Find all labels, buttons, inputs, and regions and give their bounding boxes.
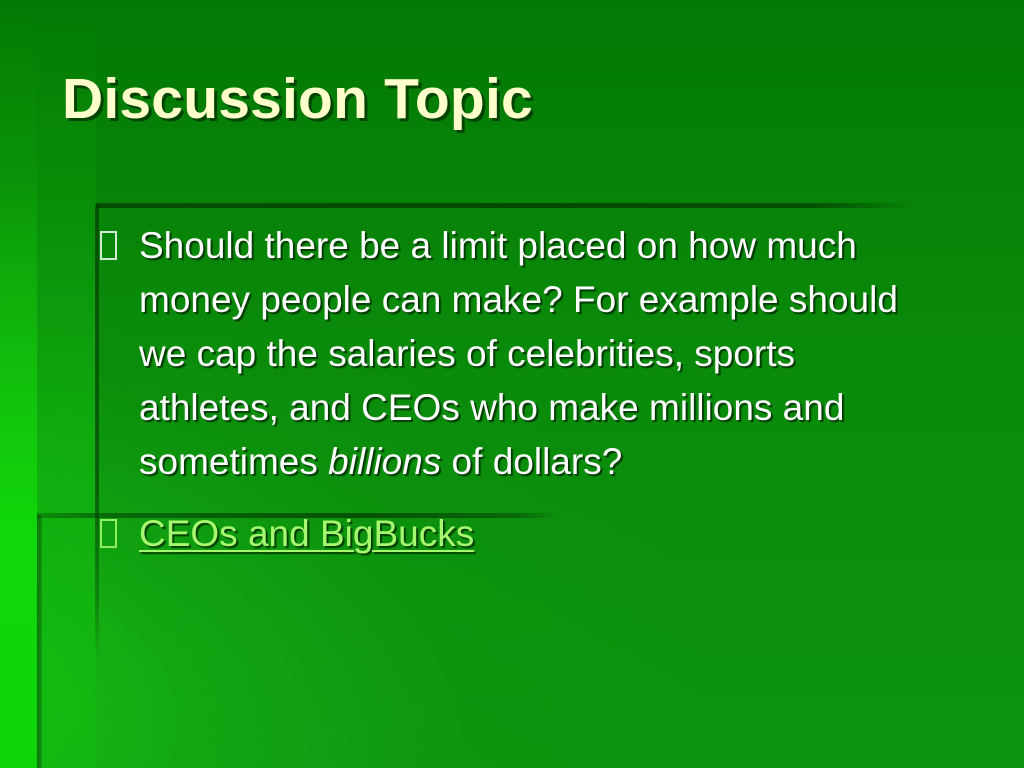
content-placeholder-top-shadow xyxy=(96,203,914,208)
decorative-panel-left-shadow xyxy=(37,515,42,768)
question-text-emphasis: billions xyxy=(328,441,441,482)
background-left-accent-band xyxy=(0,0,37,768)
question-text-part-two: of dollars? xyxy=(441,441,622,482)
tofu-box-bullet-icon xyxy=(100,231,117,260)
hyperlink-ceos-and-bigbucks[interactable]: CEOs and BigBucks xyxy=(139,507,940,561)
tofu-box-bullet-icon xyxy=(100,519,117,548)
slide-body-content: Should there be a limit placed on how mu… xyxy=(100,219,940,561)
bullet-item-link[interactable]: CEOs and BigBucks xyxy=(100,507,940,561)
presentation-slide: Discussion Topic Should there be a limit… xyxy=(0,0,1024,768)
bullet-item-question-text: Should there be a limit placed on how mu… xyxy=(139,219,940,489)
content-placeholder-left-shadow xyxy=(95,205,99,660)
bullet-item-question: Should there be a limit placed on how mu… xyxy=(100,219,940,489)
slide-title: Discussion Topic xyxy=(62,70,962,130)
